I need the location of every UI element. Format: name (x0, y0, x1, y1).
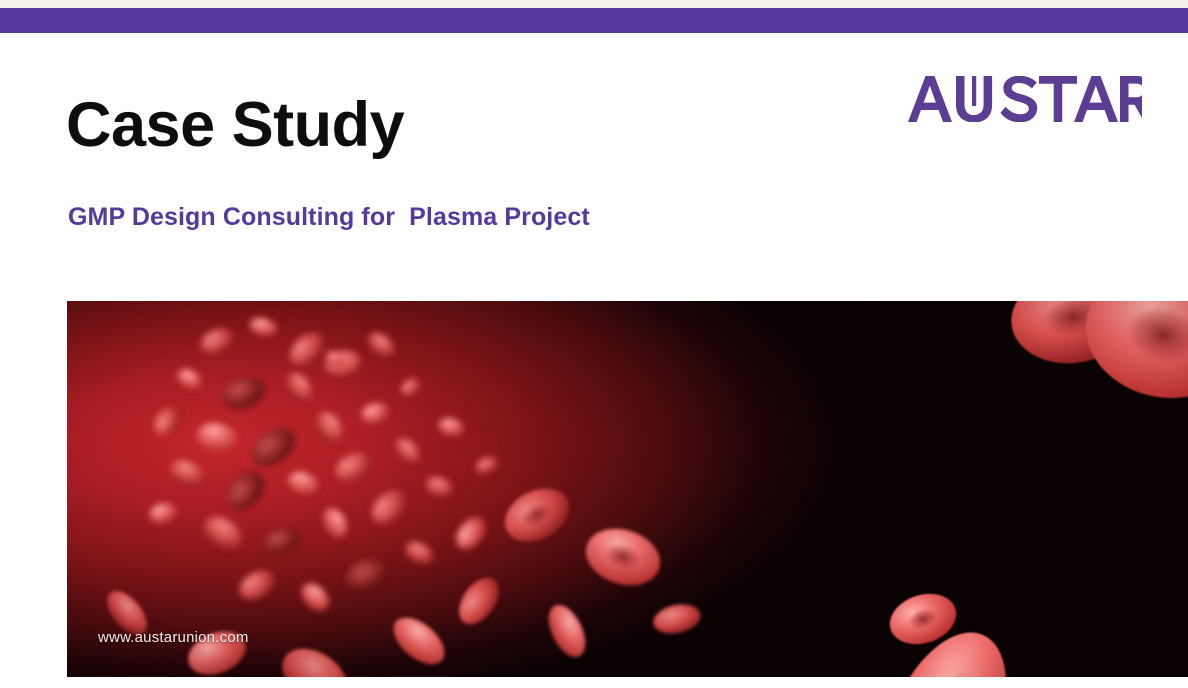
page-title: Case Study (66, 92, 404, 158)
page-subtitle: GMP Design Consulting for Plasma Project (68, 203, 590, 232)
website-url: www.austarunion.com (98, 629, 249, 646)
austar-logo (908, 76, 1142, 122)
blood-cells-layer (67, 301, 1188, 677)
slide-root: Case Study GMP Design Consulting for Pla… (0, 0, 1188, 688)
top-purple-bar (0, 8, 1188, 33)
hero-image (67, 301, 1188, 677)
top-cream-strip (0, 0, 1188, 8)
